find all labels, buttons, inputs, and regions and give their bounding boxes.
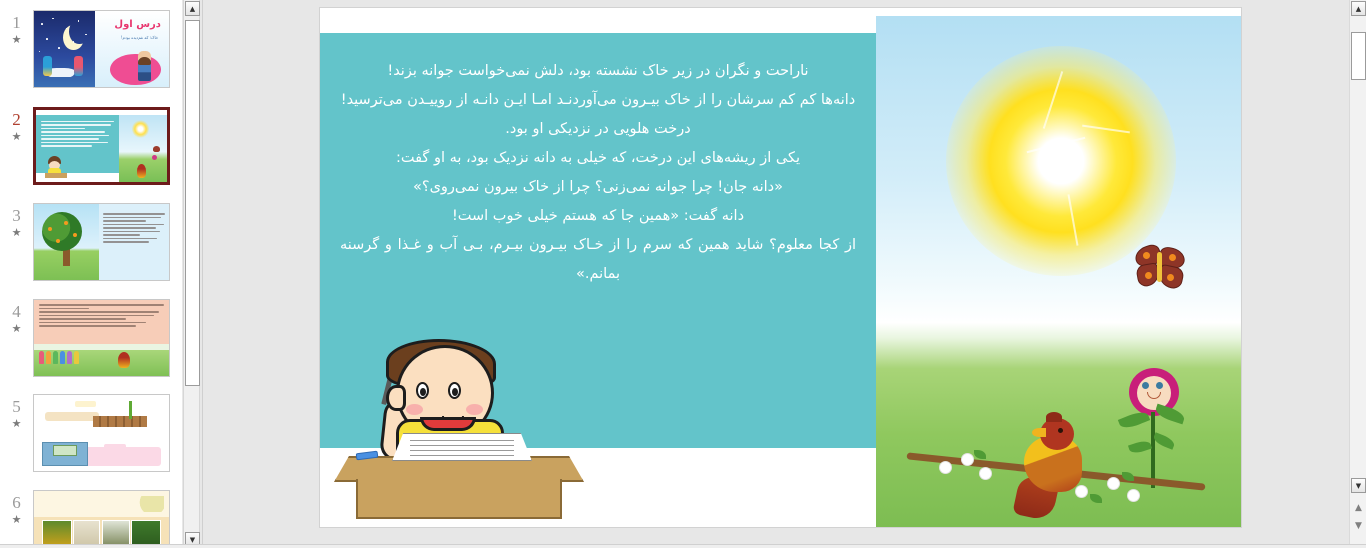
- slide4-bird-icon: [118, 352, 130, 368]
- thumbnail-pane-scrollbar[interactable]: ▲ ▼: [183, 0, 200, 548]
- sun-icon: [946, 46, 1176, 276]
- desk-front: [356, 479, 562, 519]
- paragraph-3: درخت هلویی در نزدیکی او بود.: [340, 115, 856, 144]
- slide2-flower-icon: [152, 155, 157, 160]
- slide3-mini-text: [103, 213, 165, 243]
- slide4-mini-text: [39, 304, 163, 327]
- slide2-sun-icon: [132, 120, 148, 137]
- slide3-picture-panel: [34, 204, 99, 280]
- slide-2-frame[interactable]: [33, 107, 170, 185]
- slide6-logo: [126, 496, 164, 513]
- slide4-children-group: [39, 351, 79, 364]
- slide-thumbnail-4[interactable]: 4 ★: [0, 299, 182, 395]
- slide-1-preview: درس اول خاک؛ که غم‌دیده بودم!: [34, 11, 169, 87]
- slide1-night-bg: [34, 11, 95, 87]
- slide-scroll-up-button[interactable]: ▲: [1351, 1, 1366, 16]
- slide2-boy-desk: [45, 173, 67, 178]
- window-bottom-edge: [0, 544, 1366, 548]
- slide-3-frame[interactable]: [33, 203, 170, 281]
- slide5-tag-1: [75, 401, 97, 407]
- slide-scrollbar-thumb[interactable]: [1351, 32, 1366, 80]
- powerpoint-window: 1 ★ درس اول خاک؛ که غم‌دیده بودم!: [0, 0, 1366, 548]
- flower-left-eye: [1142, 382, 1149, 389]
- slide2-butterfly-icon: [153, 146, 160, 152]
- slide2-bird-icon: [137, 164, 146, 178]
- boy-ear: [386, 385, 406, 411]
- animation-star-icon-5: ★: [12, 417, 22, 431]
- boy-right-cheek: [466, 404, 483, 415]
- slide-4-meta: 4 ★: [0, 299, 33, 336]
- slide-3-meta: 3 ★: [0, 203, 33, 240]
- previous-slide-button[interactable]: ▲: [1352, 500, 1365, 516]
- flower-stem: [1151, 412, 1155, 488]
- slide-5-meta: 5 ★: [0, 394, 33, 431]
- paragraph-2: دانه‌ها کم کم سرشان را از خاک بیـرون می‌…: [340, 86, 856, 115]
- slide-number-2: 2: [12, 111, 21, 129]
- bird-eye: [1058, 428, 1063, 433]
- paragraph-1: ناراحت و نگران در زیر خاک نشسته بود، دلش…: [340, 57, 856, 86]
- slide-5-frame[interactable]: [33, 394, 170, 472]
- slide5-sprout-icon: [129, 401, 132, 419]
- slide3-text-panel: [99, 204, 169, 280]
- slide1-kid-left: [43, 56, 52, 76]
- slide-6-meta: 6 ★: [0, 490, 33, 527]
- slide-thumbnail-3[interactable]: 3 ★: [0, 203, 182, 299]
- slide1-boy-hair: [138, 57, 151, 65]
- flower-with-face-icon: [1123, 368, 1183, 488]
- paragraph-6: دانه گفت: «همین جا که هستم خیلی خوب است!: [340, 202, 856, 231]
- slide-6-frame[interactable]: [33, 490, 170, 548]
- animation-star-icon-3: ★: [12, 226, 22, 240]
- animation-star-icon-6: ★: [12, 513, 22, 527]
- slide1-boy-figure: [138, 51, 151, 81]
- slide-3-preview: [34, 204, 169, 280]
- slide1-kid-right: [74, 56, 83, 76]
- slide1-pink-blob: [110, 54, 161, 86]
- animation-star-icon-2: ★: [12, 130, 22, 144]
- current-slide[interactable]: ناراحت و نگران در زیر خاک نشسته بود، دلش…: [320, 8, 1241, 527]
- slide3-tree-crown: [42, 212, 82, 252]
- slide-number-5: 5: [12, 398, 21, 416]
- slide5-seed-tray: [93, 416, 147, 427]
- slide-number-4: 4: [12, 303, 21, 321]
- slide-picture-panel: [876, 16, 1241, 527]
- animation-star-icon-4: ★: [12, 322, 22, 336]
- bird-beak: [1032, 428, 1046, 437]
- thumbnail-scrollbar-thumb[interactable]: [185, 20, 200, 386]
- paragraph-4: یکی از ریشه‌های این درخت، که خیلی به دان…: [340, 144, 856, 173]
- slide-view-scrollbar[interactable]: ▲ ▼ ▲ ▼: [1349, 0, 1366, 548]
- slide-number-6: 6: [12, 494, 21, 512]
- slide-stage: ناراحت و نگران در زیر خاک نشسته بود، دلش…: [206, 0, 1340, 548]
- slide-top-white-band: [320, 8, 876, 33]
- slide-2-meta: 2 ★: [0, 107, 33, 144]
- boy-right-eye: [448, 382, 461, 399]
- slide5-whiteboard: [53, 445, 77, 456]
- slide2-picture-panel: [119, 115, 167, 182]
- boy-collar: [420, 417, 476, 431]
- slide-4-frame[interactable]: [33, 299, 170, 377]
- paper-sheet: [392, 433, 532, 461]
- bird-crest: [1046, 412, 1062, 422]
- butterfly-icon: [1131, 244, 1189, 292]
- slide-thumbnail-5[interactable]: 5 ★: [0, 394, 182, 490]
- boy-left-cheek: [406, 404, 423, 415]
- paragraph-7: از کجا معلوم؟ شاید همین که سرم را از خـا…: [340, 231, 856, 289]
- slide5-caption-band: [45, 412, 99, 421]
- slide2-boy-figure: [45, 156, 67, 178]
- animation-star-icon-1: ★: [12, 33, 22, 47]
- slide1-title: درس اول: [114, 19, 161, 30]
- flower-right-eye: [1156, 382, 1163, 389]
- paragraph-5: «دانه جان! چرا جوانه نمی‌زنی؟ چرا از خاک…: [340, 173, 856, 202]
- slide4-text-panel: [34, 300, 169, 344]
- bird-icon: [1014, 414, 1096, 522]
- slide-thumbnail-6[interactable]: 6 ★: [0, 490, 182, 548]
- slide-6-preview: [34, 491, 169, 548]
- slide-thumbnail-pane[interactable]: 1 ★ درس اول خاک؛ که غم‌دیده بودم!: [0, 0, 182, 548]
- slide-thumbnail-1[interactable]: 1 ★ درس اول خاک؛ که غم‌دیده بودم!: [0, 10, 182, 106]
- boy-at-desk-illustration: [334, 327, 584, 527]
- boy-left-eye: [416, 382, 429, 399]
- slide-scroll-down-button[interactable]: ▼: [1351, 478, 1366, 493]
- slide-thumbnail-2[interactable]: 2 ★: [0, 107, 182, 203]
- slide2-mini-text: [41, 121, 114, 147]
- slide-number-1: 1: [12, 14, 21, 32]
- slide-1-frame[interactable]: درس اول خاک؛ که غم‌دیده بودم!: [33, 10, 170, 88]
- slide-4-preview: [34, 300, 169, 376]
- slide-body-text[interactable]: ناراحت و نگران در زیر خاک نشسته بود، دلش…: [320, 33, 876, 289]
- thumbnail-scroll-up-button[interactable]: ▲: [185, 1, 200, 16]
- slide-5-preview: [34, 395, 169, 471]
- slide-number-3: 3: [12, 207, 21, 225]
- slide1-subtitle: خاک؛ که غم‌دیده بودم!: [121, 35, 158, 40]
- slide-2-preview: [36, 110, 167, 182]
- next-slide-button[interactable]: ▼: [1352, 518, 1365, 534]
- slide-1-meta: 1 ★: [0, 10, 33, 47]
